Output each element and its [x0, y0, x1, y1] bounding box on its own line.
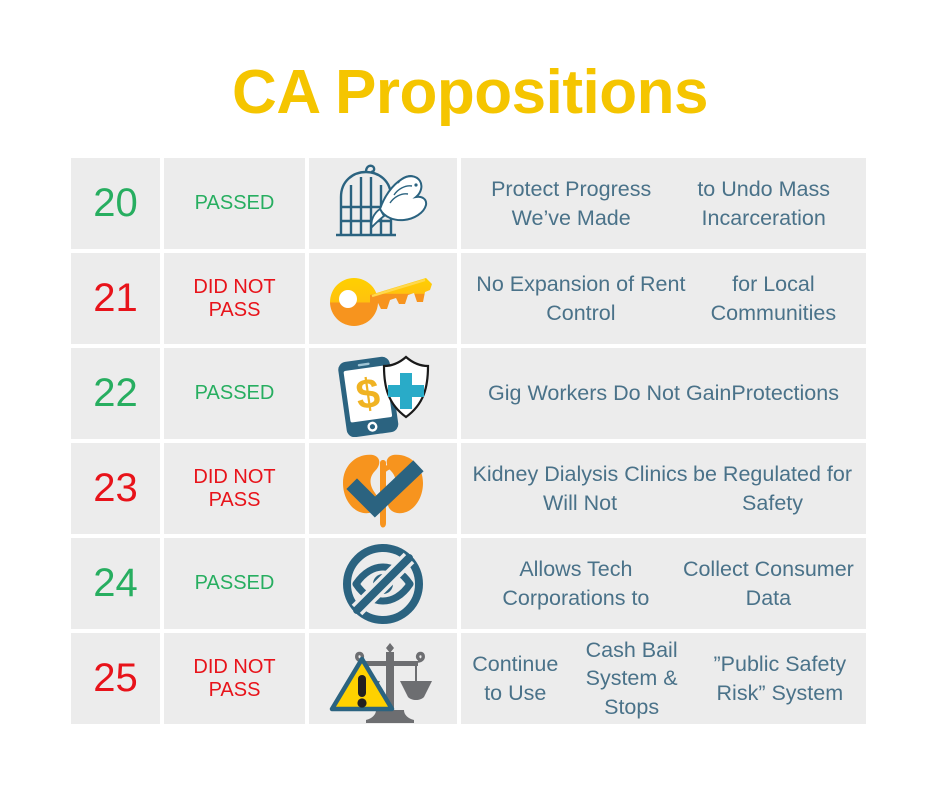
- proposition-number: 23: [71, 443, 160, 534]
- proposition-number: 20: [71, 158, 160, 249]
- status-badge: DID NOT PASS: [164, 443, 305, 534]
- proposition-icon-cell: [309, 253, 457, 344]
- birdcage-dove-icon: [309, 158, 457, 249]
- table-row: 22 PASSED $: [71, 348, 866, 439]
- description-line: Continue to Use: [471, 650, 560, 707]
- page-title: CA Propositions: [0, 62, 940, 124]
- proposition-number: 25: [71, 633, 160, 724]
- description-line: Gig Workers Do Not Gain: [488, 379, 731, 407]
- description-line: be Regulated for Safety: [689, 460, 856, 517]
- proposition-icon-cell: $: [309, 348, 457, 439]
- status-badge: PASSED: [164, 538, 305, 629]
- description-line: for Local Communities: [691, 270, 856, 327]
- proposition-description: No Expansion of Rent Control for Local C…: [461, 253, 866, 344]
- table-row: 20 PASSED: [71, 158, 866, 249]
- proposition-description: Continue to Use Cash Bail System & Stops…: [461, 633, 866, 724]
- proposition-number: 22: [71, 348, 160, 439]
- proposition-description: Gig Workers Do Not Gain Protections: [461, 348, 866, 439]
- description-line: Protections: [731, 379, 839, 407]
- proposition-icon-cell: [309, 538, 457, 629]
- proposition-number: 24: [71, 538, 160, 629]
- eye-slash-no-privacy-icon: [309, 538, 457, 629]
- infographic-page: CA Propositions 20 PASSED: [0, 0, 940, 788]
- proposition-description: Protect Progress We’ve Made to Undo Mass…: [461, 158, 866, 249]
- proposition-description: Kidney Dialysis Clinics Will Not be Regu…: [461, 443, 866, 534]
- description-line: Allows Tech Corporations to: [471, 555, 681, 612]
- proposition-number: 21: [71, 253, 160, 344]
- phone-dollar-shield-icon: $: [309, 348, 457, 439]
- description-line: Protect Progress We’ve Made: [471, 175, 671, 232]
- status-badge: PASSED: [164, 158, 305, 249]
- table-row: 23 DID NOT PASS Kidney Dia: [71, 443, 866, 534]
- table-row: 21 DID NOT PASS: [71, 253, 866, 344]
- status-badge: PASSED: [164, 348, 305, 439]
- key-icon: [309, 253, 457, 344]
- kidney-checkmark-icon: [309, 443, 457, 534]
- proposition-icon-cell: [309, 158, 457, 249]
- description-line: Kidney Dialysis Clinics Will Not: [471, 460, 689, 517]
- table-row: 24 PASSED Allows Tech Corporations to Co…: [71, 538, 866, 629]
- propositions-table: 20 PASSED: [71, 158, 866, 724]
- status-badge: DID NOT PASS: [164, 253, 305, 344]
- description-line: No Expansion of Rent Control: [471, 270, 691, 327]
- description-line: Collect Consumer Data: [681, 555, 856, 612]
- justice-scales-warning-icon: [309, 633, 457, 724]
- status-badge: DID NOT PASS: [164, 633, 305, 724]
- description-line: to Undo Mass Incarceration: [671, 175, 856, 232]
- proposition-description: Allows Tech Corporations to Collect Cons…: [461, 538, 866, 629]
- proposition-icon-cell: [309, 633, 457, 724]
- description-line: Cash Bail System & Stops: [560, 636, 704, 721]
- proposition-icon-cell: [309, 443, 457, 534]
- description-line: ”Public Safety Risk” System: [704, 650, 856, 707]
- table-row: 25 DID NOT PASS: [71, 633, 866, 724]
